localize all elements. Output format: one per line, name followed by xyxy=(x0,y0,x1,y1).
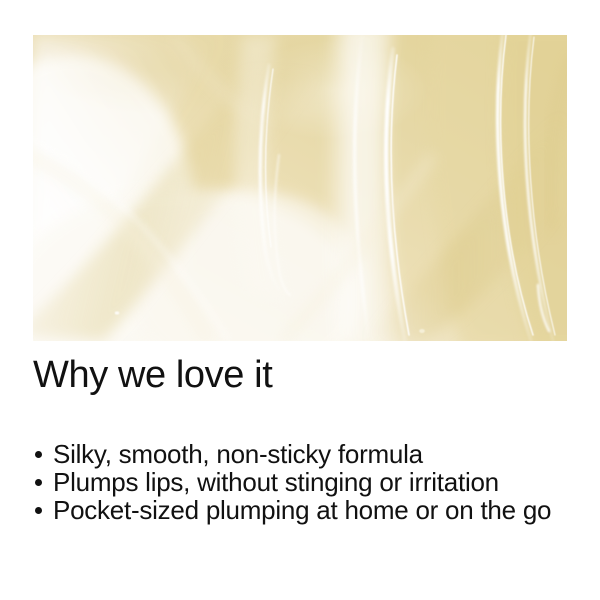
bullet-icon xyxy=(35,507,42,514)
list-item: Silky, smooth, non-sticky formula xyxy=(33,440,573,468)
list-item-label: Pocket-sized plumping at home or on the … xyxy=(53,496,573,524)
list-item: Pocket-sized plumping at home or on the … xyxy=(33,496,573,524)
bullet-icon xyxy=(35,479,42,486)
page-title: Why we love it xyxy=(33,352,573,398)
list-item-label: Silky, smooth, non-sticky formula xyxy=(53,440,573,468)
product-texture-image xyxy=(33,35,567,341)
list-item-label: Plumps lips, without stinging or irritat… xyxy=(53,468,573,496)
benefits-content: Why we love it Silky, smooth, non-sticky… xyxy=(33,352,573,524)
bullet-icon xyxy=(35,451,42,458)
gel-texture-illustration xyxy=(33,35,567,341)
list-item: Plumps lips, without stinging or irritat… xyxy=(33,468,573,496)
benefits-list: Silky, smooth, non-sticky formula Plumps… xyxy=(33,440,573,524)
product-benefits-page: Why we love it Silky, smooth, non-sticky… xyxy=(0,0,600,600)
